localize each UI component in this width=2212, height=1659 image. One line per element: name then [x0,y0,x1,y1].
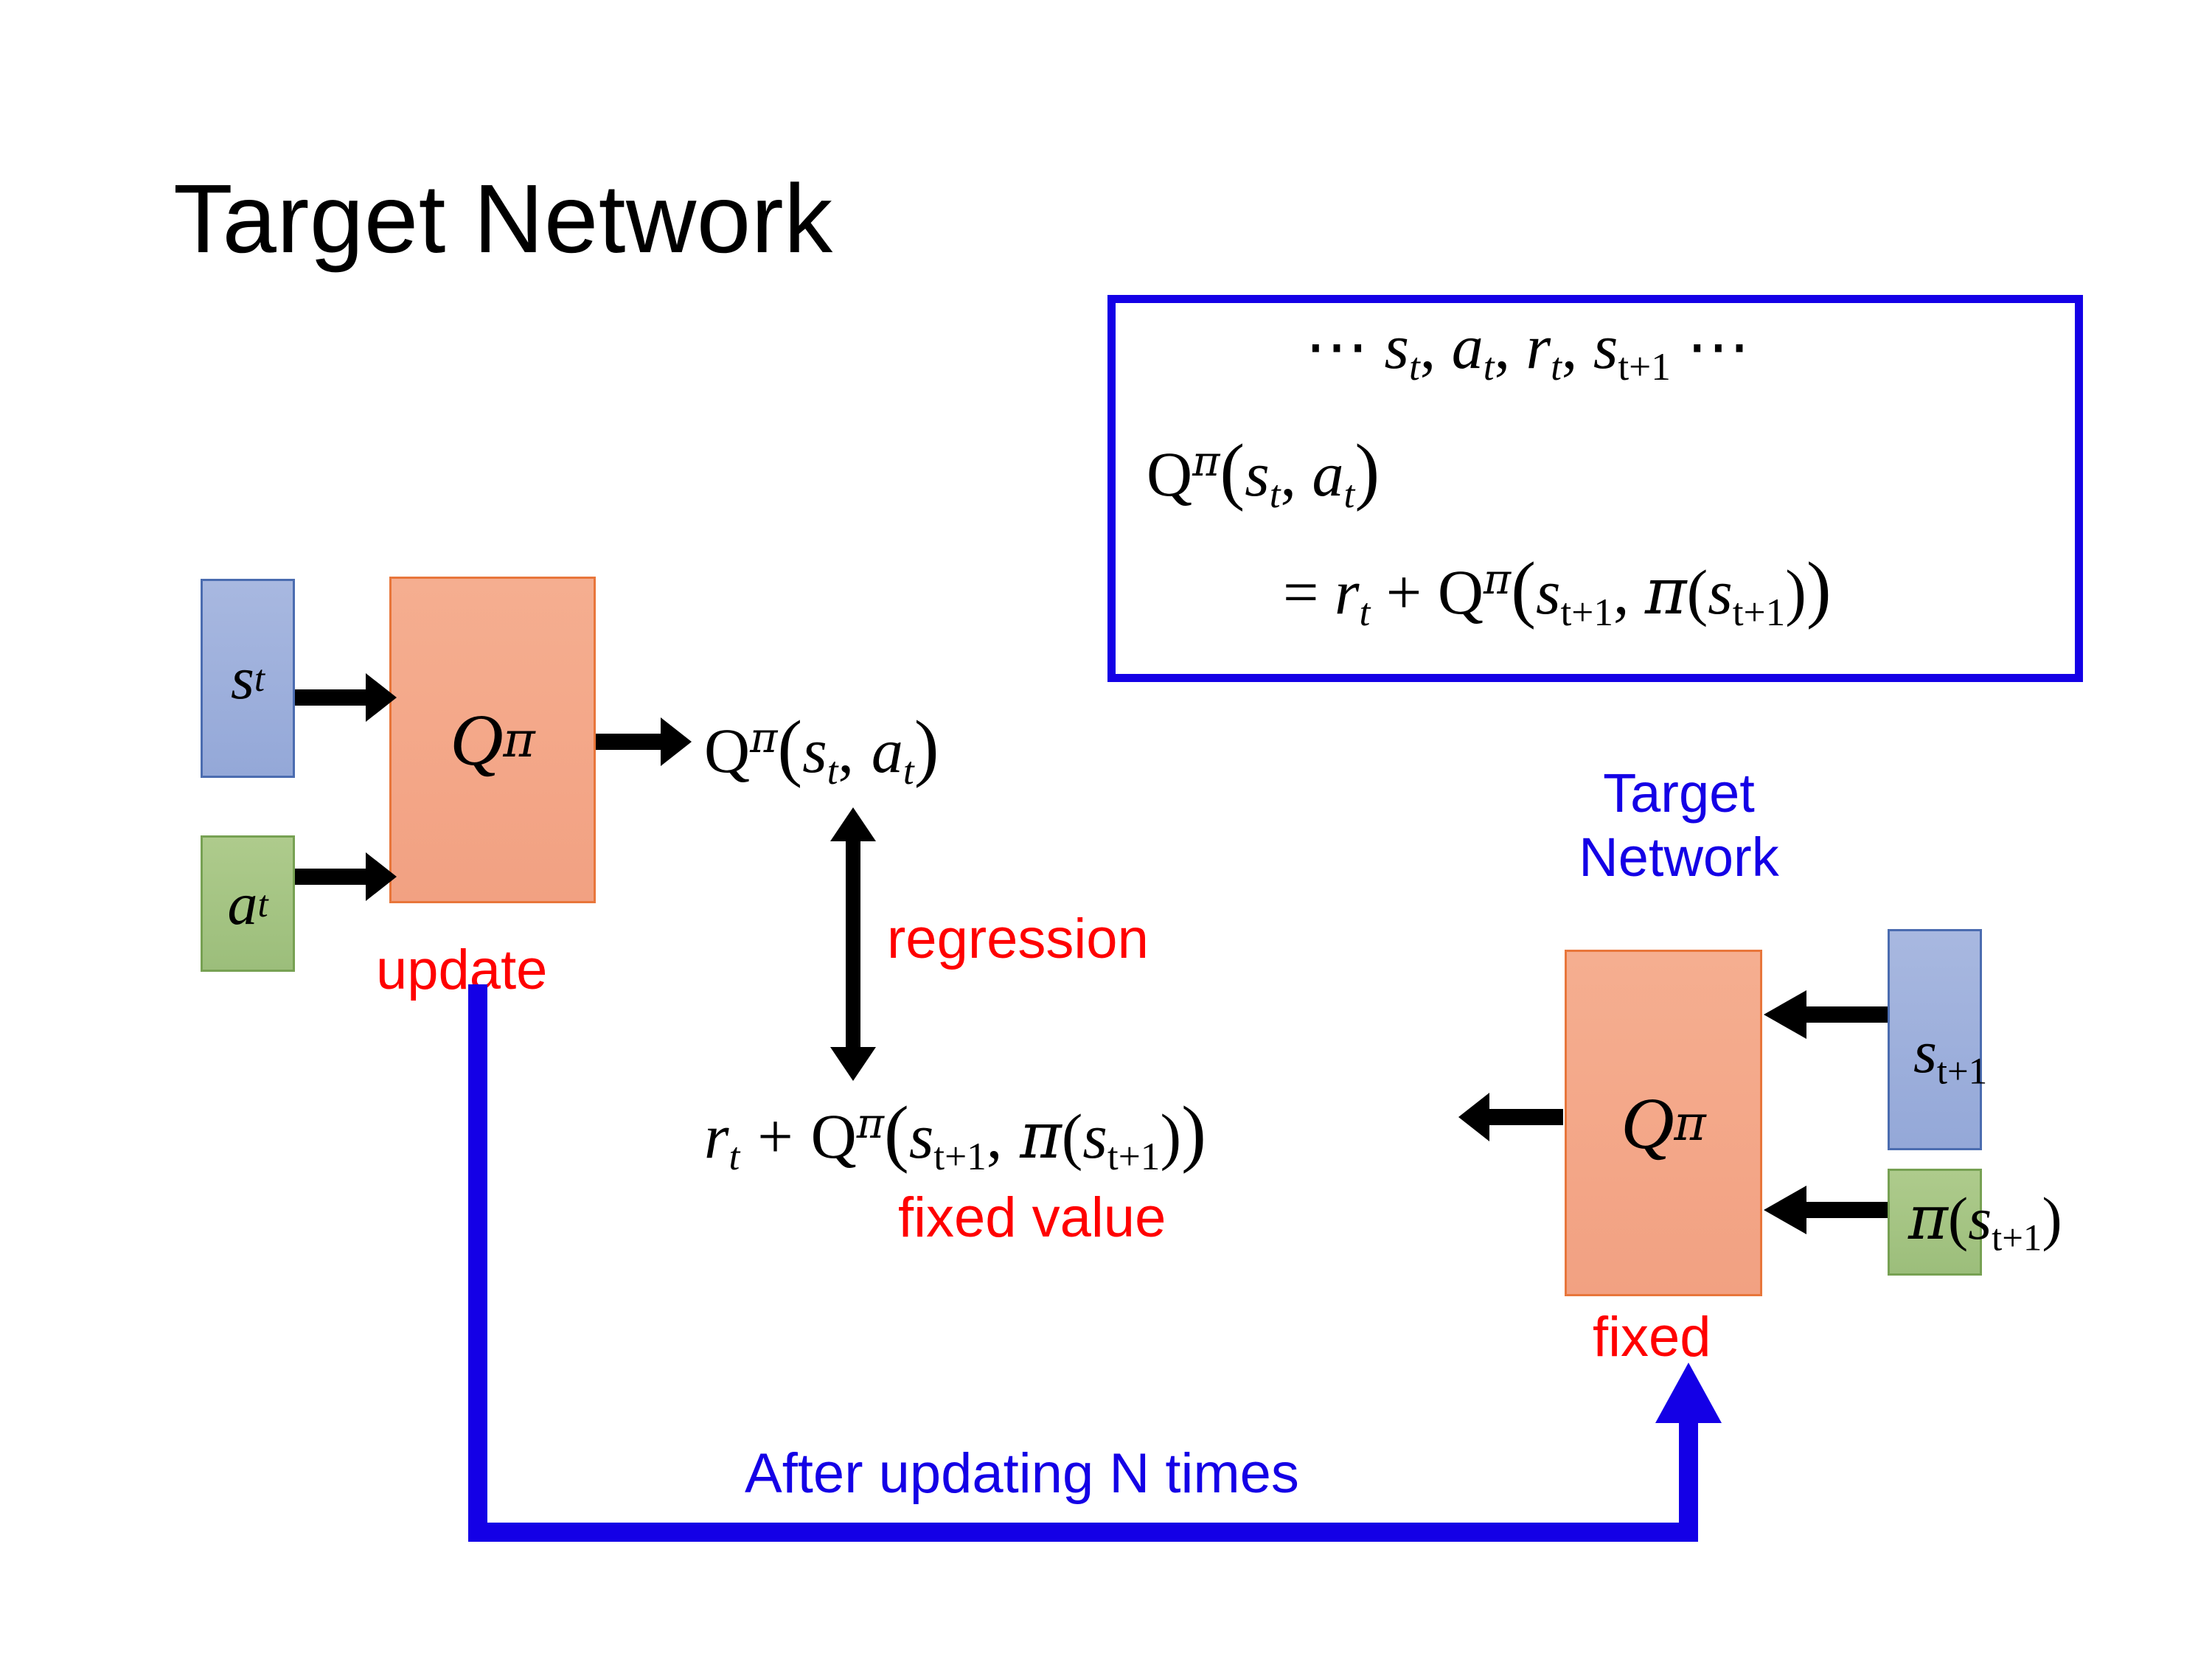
q-network-box-right: Qπ [1565,950,1762,1296]
page-title: Target Network [173,168,833,271]
target-network-annotation-line1: Target [1557,761,1801,825]
target-network-annotation: Target Network [1557,761,1801,890]
fixed-value-expression: rt + Qπ(st+1, π(st+1)) [704,1090,1206,1179]
q-network-label-right: Qπ [1567,952,1760,1294]
fixed-value-annotation: fixed value [898,1186,1166,1250]
q-network-label-left: Qπ [392,579,594,901]
equation-line-bellman: = rt + Qπ(st+1, π(st+1)) [1283,546,1832,635]
q-value-output-expression: Qπ(st, at) [704,704,939,793]
state-input-label-right: st+1 [1913,1018,1987,1092]
action-input-box-left: at [201,835,295,972]
fixed-annotation: fixed [1593,1305,1711,1369]
q-network-box-left: Qπ [389,577,596,903]
equation-line-transition: ⋯ st, at, rt, st+1 ⋯ [1305,310,1750,389]
action-input-label-left: at [203,838,293,970]
target-network-annotation-line2: Network [1557,825,1801,889]
feedback-path-label: After updating N times [745,1441,1299,1506]
state-input-box-left: st [201,579,295,778]
update-annotation: update [376,938,547,1002]
state-input-label-left: st [203,581,293,776]
equation-line-q-value: Qπ(st, at) [1147,428,1380,517]
regression-annotation: regression [887,907,1149,971]
action-input-label-right: π(st+1) [1908,1183,2062,1259]
